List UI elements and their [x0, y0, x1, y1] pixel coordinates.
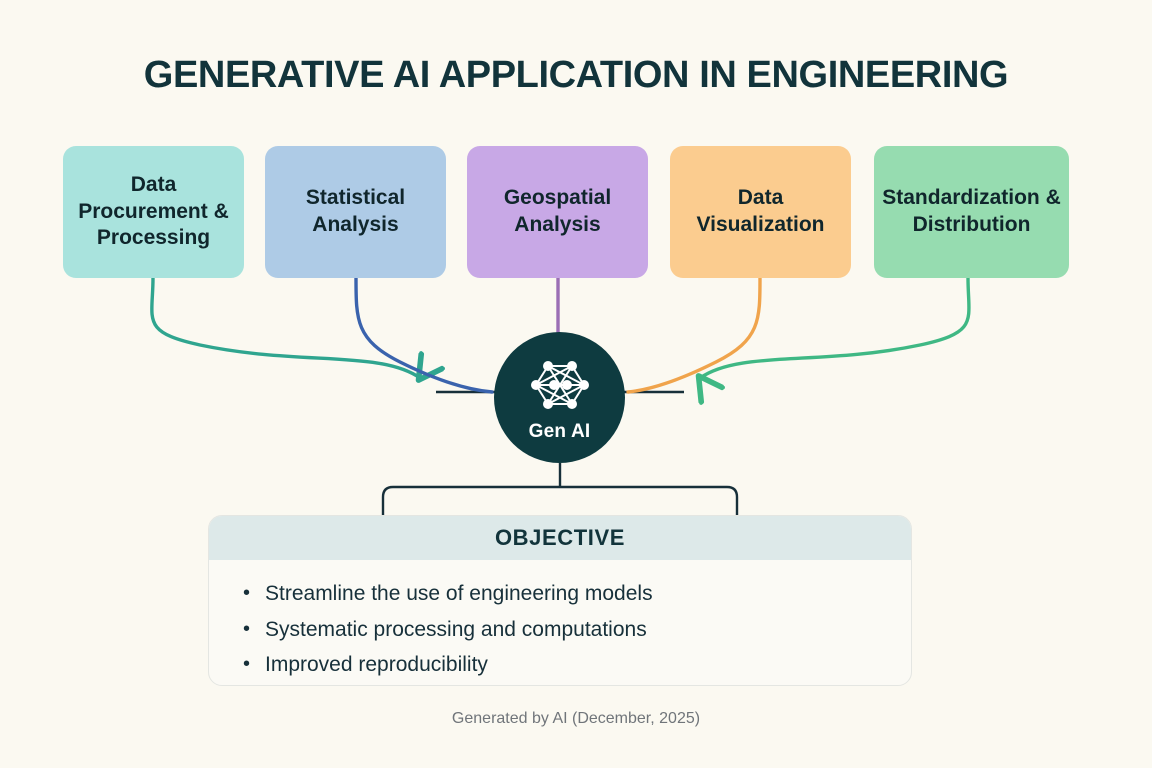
objective-heading: OBJECTIVE — [209, 516, 911, 560]
connector-standardization — [700, 278, 969, 378]
objective-item: Streamline the use of engineering models — [265, 576, 911, 612]
footer-caption: Generated by AI (December, 2025) — [0, 710, 1152, 728]
category-label: Data Procurement & Processing — [71, 172, 236, 253]
connector-data-visualization — [628, 278, 760, 392]
diagram-canvas: GENERATIVE AI APPLICATION IN ENGINEERING… — [0, 0, 1152, 768]
objective-item: Improved reproducibility — [265, 647, 911, 683]
objective-list: Streamline the use of engineering models… — [209, 560, 911, 683]
category-label: Data Visualization — [678, 185, 843, 239]
category-box-standardization[interactable]: Standardization & Distribution — [874, 146, 1069, 278]
category-box-statistical-analysis[interactable]: Statistical Analysis — [265, 146, 446, 278]
objective-panel: OBJECTIVE Streamline the use of engineer… — [208, 515, 912, 686]
category-box-data-visualization[interactable]: Data Visualization — [670, 146, 851, 278]
connector-data-procurement — [152, 278, 420, 378]
category-label: Statistical Analysis — [273, 185, 438, 239]
category-label: Standardization & Distribution — [882, 185, 1061, 239]
connector-statistical-analysis — [356, 278, 492, 392]
category-box-data-procurement[interactable]: Data Procurement & Processing — [63, 146, 244, 278]
category-box-geospatial-analysis[interactable]: Geospatial Analysis — [467, 146, 648, 278]
hub-label: Gen AI — [529, 421, 591, 443]
neural-network-icon — [529, 356, 591, 419]
page-title: GENERATIVE AI APPLICATION IN ENGINEERING — [0, 54, 1152, 97]
objective-item: Systematic processing and computations — [265, 612, 911, 648]
category-label: Geospatial Analysis — [475, 185, 640, 239]
gen-ai-hub[interactable]: Gen AI — [494, 332, 625, 463]
